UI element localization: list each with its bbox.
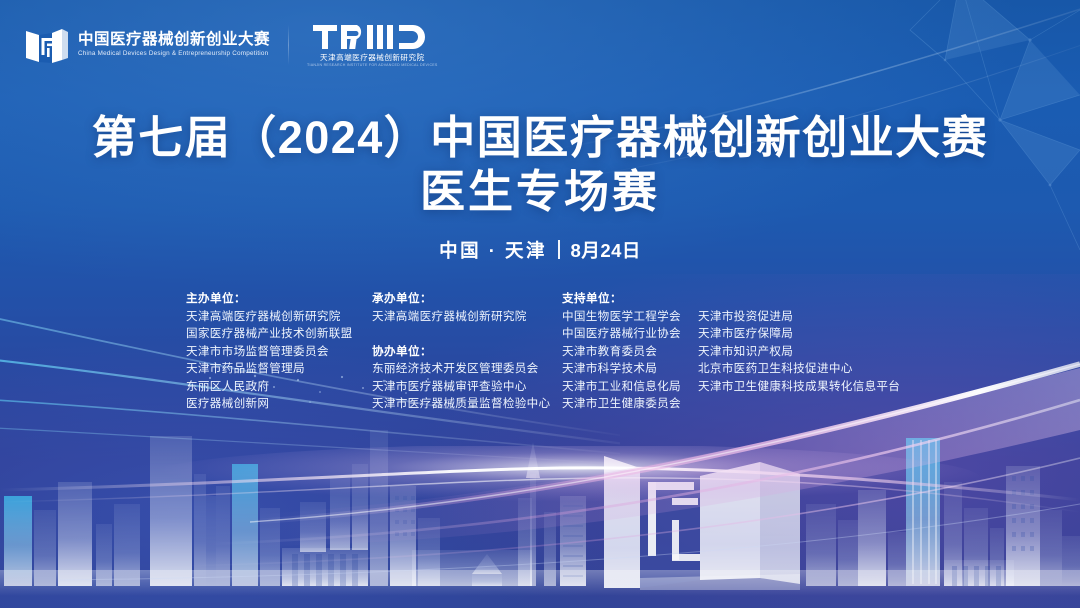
- organizations-block: 主办单位： 天津高端医疗器械创新研究院 国家医疗器械产业技术创新联盟 天津市市场…: [186, 290, 908, 413]
- page-title-line1: 第七届（2024）中国医疗器械创新创业大赛: [0, 112, 1080, 163]
- column-spacer: [372, 325, 562, 343]
- support-heading: 支持单位：: [562, 290, 698, 308]
- event-meta: 中国 · 天津 8月24日: [0, 237, 1080, 263]
- list-item: 天津市卫生健康委员会: [562, 395, 698, 413]
- institute-logo[interactable]: 天津高端医疗器械创新研究院 TIANJIN RESEARCH INSTITUTE…: [307, 22, 438, 67]
- host-heading: 承办单位：: [372, 290, 562, 308]
- list-item: 东丽经济技术开发区管理委员会: [372, 360, 562, 378]
- gate-monument: [604, 456, 800, 590]
- list-item: 天津市投资促进局: [698, 308, 908, 326]
- list-item: 天津市医疗保障局: [698, 325, 908, 343]
- cityscape-silhouette: [0, 378, 1080, 608]
- list-item: 天津市药品监督管理局: [186, 360, 372, 378]
- logo-divider: [288, 25, 289, 65]
- institute-logo-cn: 天津高端医疗器械创新研究院: [320, 54, 425, 62]
- list-item: 天津市卫生健康科技成果转化信息平台: [698, 378, 908, 396]
- host-column: 承办单位： 天津高端医疗器械创新研究院 协办单位： 东丽经济技术开发区管理委员会…: [372, 290, 562, 413]
- sponsor-heading: 主办单位：: [186, 290, 372, 308]
- list-item: 天津市工业和信息化局: [562, 378, 698, 396]
- support-column-b: 天津市投资促进局 天津市医疗保障局 天津市知识产权局 北京市医药卫生科技促进中心…: [698, 290, 908, 395]
- title-block: 第七届（2024）中国医疗器械创新创业大赛 医生专场赛 中国 · 天津 8月24…: [0, 112, 1080, 263]
- cohost-heading: 协办单位：: [372, 343, 562, 361]
- list-item: 中国医疗器械行业协会: [562, 325, 698, 343]
- competition-logo-cn: 中国医疗器械创新创业大赛: [78, 32, 270, 48]
- poster-root: 中国医疗器械创新创业大赛 China Medical Devices Desig…: [0, 0, 1080, 608]
- open-door-icon: [22, 22, 68, 68]
- competition-logo[interactable]: 中国医疗器械创新创业大赛 China Medical Devices Desig…: [22, 22, 270, 68]
- event-date: 8月24日: [571, 237, 641, 263]
- list-item: 医疗器械创新网: [186, 395, 372, 413]
- page-title-line2: 医生专场赛: [0, 163, 1080, 221]
- list-item: 天津高端医疗器械创新研究院: [186, 308, 372, 326]
- meta-divider: [558, 240, 560, 259]
- list-item: 北京市医药卫生科技促进中心: [698, 360, 908, 378]
- header-logo-bar: 中国医疗器械创新创业大赛 China Medical Devices Desig…: [22, 22, 438, 68]
- list-item: 天津市医疗器械质量监督检验中心: [372, 395, 562, 413]
- list-item: 中国生物医学工程学会: [562, 308, 698, 326]
- list-item: 天津市科学技术局: [562, 360, 698, 378]
- sponsor-column: 主办单位： 天津高端医疗器械创新研究院 国家医疗器械产业技术创新联盟 天津市市场…: [186, 290, 372, 413]
- list-item: 东丽区人民政府: [186, 378, 372, 396]
- institute-logo-en: TIANJIN RESEARCH INSTITUTE FOR ADVANCED …: [307, 64, 438, 68]
- list-item: 天津市医疗器械审评查验中心: [372, 378, 562, 396]
- list-item: 国家医疗器械产业技术创新联盟: [186, 325, 372, 343]
- list-item: 天津市知识产权局: [698, 343, 908, 361]
- support-column-a: 支持单位： 中国生物医学工程学会 中国医疗器械行业协会 天津市教育委员会 天津市…: [562, 290, 698, 413]
- competition-logo-en: China Medical Devices Design & Entrepren…: [78, 51, 274, 58]
- list-item: 天津市教育委员会: [562, 343, 698, 361]
- list-item: 天津市市场监督管理委员会: [186, 343, 372, 361]
- list-item: 天津高端医疗器械创新研究院: [372, 308, 562, 326]
- horizon-light-sweep: [0, 446, 1080, 536]
- trimd-wordmark-icon: [313, 22, 431, 52]
- event-location: 中国 · 天津: [439, 237, 547, 263]
